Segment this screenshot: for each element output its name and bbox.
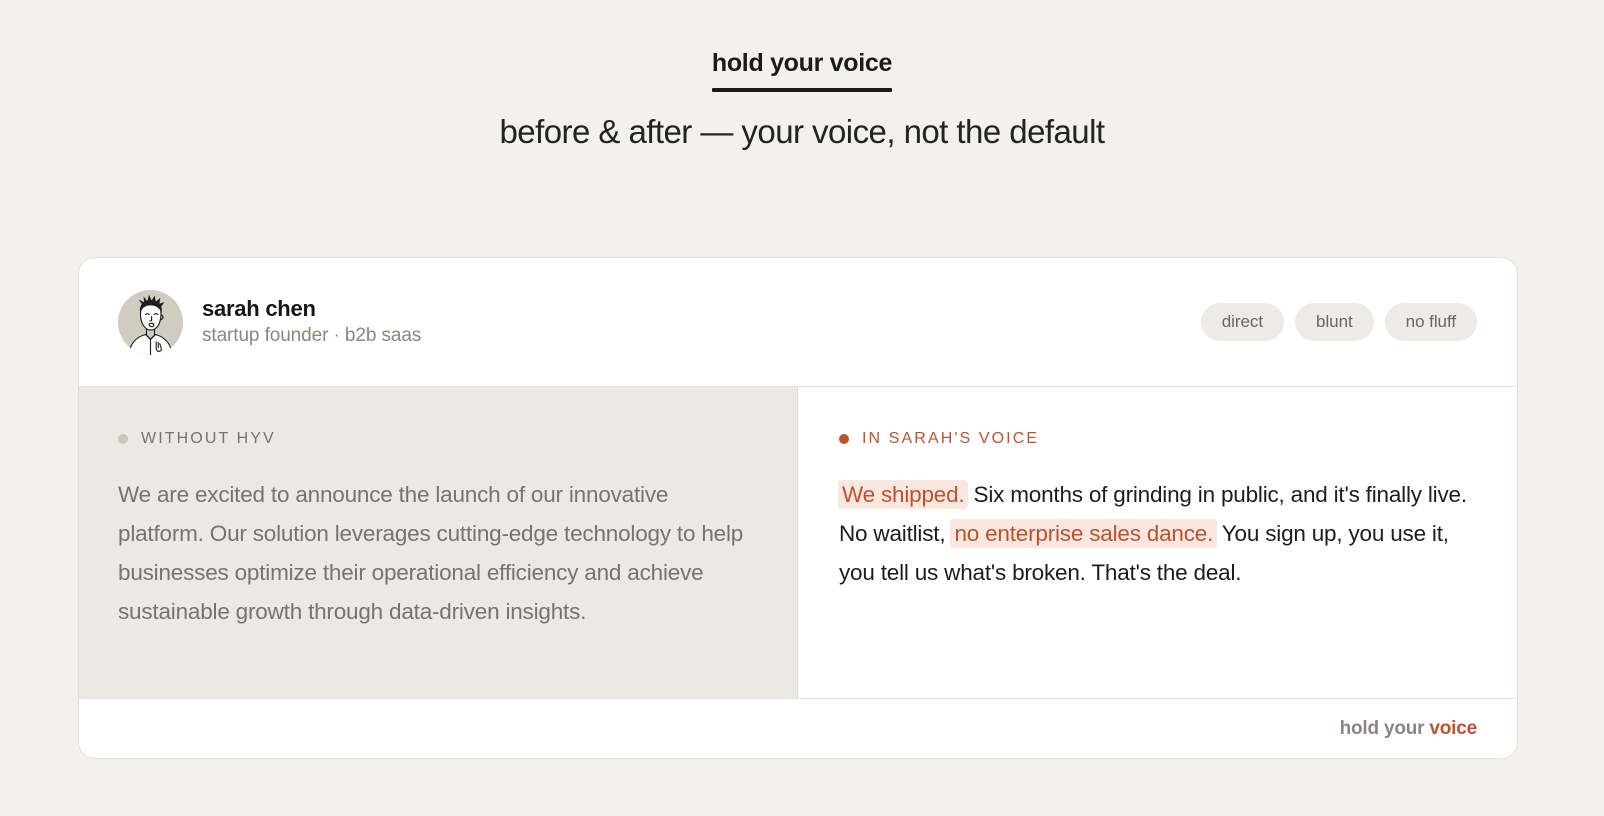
highlight-phrase-2: no enterprise sales dance. [950, 519, 1217, 548]
footer-wordmark: hold your voice [1340, 718, 1477, 740]
voice-tag-no-fluff[interactable]: no fluff [1385, 303, 1477, 342]
panel-after-label: IN SARAH'S VOICE [839, 431, 1477, 447]
footer-wordmark-accent: voice [1429, 718, 1477, 739]
page-tagline: before & after — your voice, not the def… [0, 113, 1604, 151]
panel-before: WITHOUT HYV We are excited to announce t… [79, 387, 798, 698]
status-dot-accent-icon [839, 434, 849, 444]
card-header: sarah chen startup founder · b2b saas di… [79, 258, 1517, 387]
panel-before-body: We are excited to announce the launch of… [118, 475, 757, 631]
profile-name: sarah chen [202, 296, 421, 322]
brand-lockup[interactable]: hold your voice [712, 48, 892, 92]
brand-underline [712, 88, 892, 92]
comparison-card: sarah chen startup founder · b2b saas di… [78, 257, 1518, 759]
status-dot-icon [118, 434, 128, 444]
voice-tag-direct[interactable]: direct [1201, 303, 1284, 342]
panel-after-body: We shipped. Six months of grinding in pu… [839, 475, 1477, 592]
profile-meta: startup founder · b2b saas [202, 325, 421, 348]
voice-tag-blunt[interactable]: blunt [1295, 303, 1374, 342]
card-footer: hold your voice [79, 698, 1517, 758]
panel-before-label-text: WITHOUT HYV [141, 431, 276, 447]
profile-text: sarah chen startup founder · b2b saas [202, 296, 421, 348]
highlight-phrase-1: We shipped. [838, 480, 968, 509]
footer-wordmark-prefix: hold your [1340, 718, 1430, 739]
voice-tag-list: direct blunt no fluff [1201, 303, 1477, 342]
profile-identity: sarah chen startup founder · b2b saas [118, 290, 1201, 355]
comparison-panels: WITHOUT HYV We are excited to announce t… [79, 387, 1517, 698]
masthead: hold your voice [0, 48, 1604, 92]
panel-after: IN SARAH'S VOICE We shipped. Six months … [798, 387, 1517, 698]
brand-title: hold your voice [712, 48, 892, 88]
panel-after-label-text: IN SARAH'S VOICE [862, 431, 1039, 447]
person-illustration-avatar [118, 290, 183, 355]
panel-before-label: WITHOUT HYV [118, 431, 757, 447]
page-root: hold your voice before & after — your vo… [0, 0, 1604, 816]
